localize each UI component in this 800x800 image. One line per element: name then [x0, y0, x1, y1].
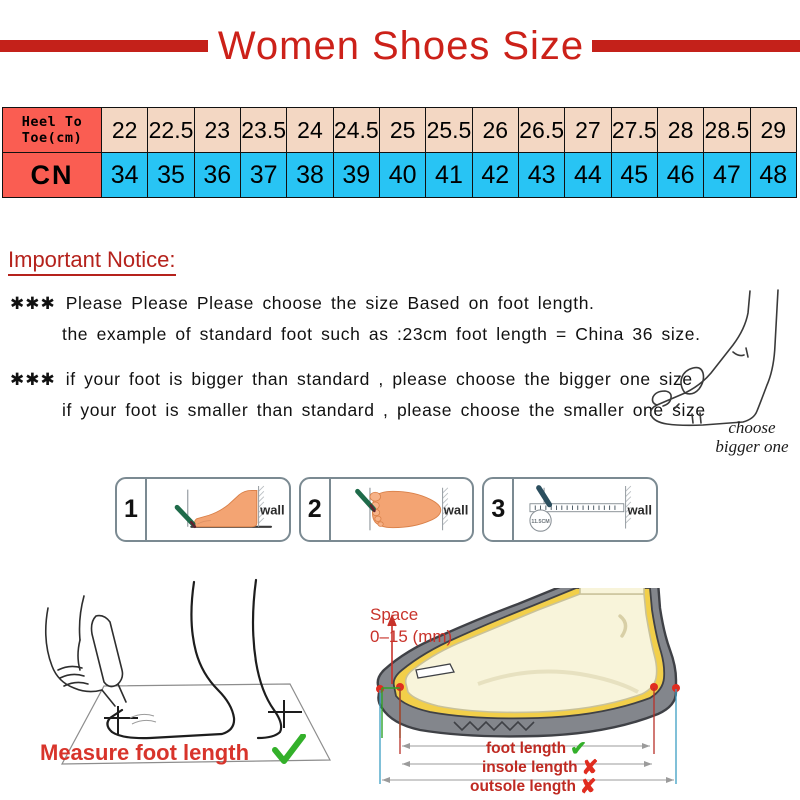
- step-2-illustration: wall: [331, 479, 473, 540]
- cm-cell: 22.5: [148, 108, 194, 153]
- notice-line-2: the example of standard foot such as :23…: [10, 319, 690, 350]
- space-label-line2: 0–15 (mm): [370, 626, 452, 648]
- green-check-icon: [272, 734, 306, 766]
- cn-cell: 47: [704, 153, 750, 198]
- title-word-women: Women: [212, 24, 366, 68]
- insole-length-label: insole length: [482, 759, 578, 777]
- cross-icon: ✘: [580, 777, 597, 797]
- table-row-cm: Heel To Toe(cm) 22 22.5 23 23.5 24 24.5 …: [3, 108, 797, 153]
- foot-art-caption-line2: bigger one: [692, 437, 800, 456]
- cn-cell: 37: [240, 153, 286, 198]
- space-label-line1: Space: [370, 604, 452, 626]
- step-panel-1: 1 wal: [115, 477, 291, 542]
- cm-cell: 23: [194, 108, 240, 153]
- cn-cell: 45: [611, 153, 657, 198]
- measurement-steps: 1 wal: [115, 477, 658, 542]
- cn-cell: 34: [102, 153, 148, 198]
- insole-length-label-row: insole length ✘: [470, 758, 730, 777]
- step-panel-2: 2: [299, 477, 475, 542]
- length-labels: foot length ✔ insole length ✘ outsole le…: [470, 739, 730, 796]
- cn-cell: 43: [518, 153, 564, 198]
- ruler-reading-text: 11.5CM: [532, 519, 551, 525]
- cm-cell: 27: [565, 108, 611, 153]
- step-panel-3: 3 11: [482, 477, 658, 542]
- cm-cell: 22: [102, 108, 148, 153]
- step-1-illustration: wall: [147, 479, 289, 540]
- cm-cell: 23.5: [240, 108, 286, 153]
- cn-cell: 40: [379, 153, 425, 198]
- space-label: Space 0–15 (mm): [370, 604, 452, 648]
- foot-art-caption-line1: choose: [692, 418, 800, 437]
- title-word-shoes: Shoes: [366, 24, 496, 68]
- table-row-cn: CN 34 35 36 37 38 39 40 41 42 43 44 45 4…: [3, 153, 797, 198]
- wall-label-2: wall: [444, 502, 469, 517]
- cn-cell: 36: [194, 153, 240, 198]
- cm-cell: 27.5: [611, 108, 657, 153]
- size-chart-page: WomenShoesSize Heel To Toe(cm) 22 22.5 2…: [0, 0, 800, 800]
- notice-line-1-text: Please Please Please choose the size Bas…: [66, 293, 595, 313]
- page-title: WomenShoesSize: [212, 26, 590, 66]
- notice-line-1: ✱✱✱Please Please Please choose the size …: [10, 288, 690, 319]
- cm-cell: 29: [750, 108, 796, 153]
- outsole-length-label-row: outsole length ✘: [470, 777, 730, 796]
- notice-line-3-text: if your foot is bigger than standard , p…: [66, 369, 693, 389]
- title-bar-left: [0, 40, 208, 52]
- outsole-length-label: outsole length: [470, 778, 576, 796]
- step-number-1: 1: [117, 479, 147, 540]
- notice-line-3: ✱✱✱if your foot is bigger than standard …: [10, 364, 690, 395]
- cn-cell: 44: [565, 153, 611, 198]
- cm-cell: 24.5: [333, 108, 379, 153]
- row-header-heel-to-toe: Heel To Toe(cm): [3, 108, 102, 153]
- cross-icon: ✘: [582, 758, 599, 778]
- cn-cell: 46: [657, 153, 703, 198]
- size-conversion-table: Heel To Toe(cm) 22 22.5 23 23.5 24 24.5 …: [2, 107, 797, 198]
- cn-cell: 38: [287, 153, 333, 198]
- page-title-row: WomenShoesSize: [0, 22, 800, 70]
- important-notice-heading: Important Notice:: [8, 247, 176, 276]
- step-3-illustration: 11.5CM wall: [514, 479, 656, 540]
- title-word-size: Size: [496, 24, 590, 68]
- cn-cell: 35: [148, 153, 194, 198]
- foot-art-caption: choose bigger one: [692, 418, 800, 456]
- cm-cell: 25: [379, 108, 425, 153]
- cn-cell: 48: [750, 153, 796, 198]
- cm-cell: 26.5: [518, 108, 564, 153]
- notice-line-4: if your foot is smaller than standard , …: [10, 395, 690, 426]
- foot-length-label-row: foot length ✔: [470, 739, 730, 758]
- step-number-2: 2: [301, 479, 331, 540]
- asterisk-marker: ✱✱✱: [10, 294, 66, 313]
- cn-cell: 41: [426, 153, 472, 198]
- cn-cell: 39: [333, 153, 379, 198]
- wall-label-3: wall: [627, 502, 652, 517]
- asterisk-marker: ✱✱✱: [10, 370, 66, 389]
- check-icon: ✔: [570, 739, 587, 759]
- title-bar-right: [592, 40, 800, 52]
- foot-length-label: foot length: [486, 740, 566, 758]
- cm-cell: 25.5: [426, 108, 472, 153]
- cn-cell: 42: [472, 153, 518, 198]
- cm-cell: 24: [287, 108, 333, 153]
- cm-cell: 28.5: [704, 108, 750, 153]
- cm-cell: 26: [472, 108, 518, 153]
- step-number-3: 3: [484, 479, 514, 540]
- row-header-cn: CN: [3, 153, 102, 198]
- cm-cell: 28: [657, 108, 703, 153]
- measure-foot-length-caption: Measure foot length: [40, 740, 249, 766]
- wall-label-1: wall: [260, 502, 285, 517]
- notice-text-block: ✱✱✱Please Please Please choose the size …: [10, 288, 690, 426]
